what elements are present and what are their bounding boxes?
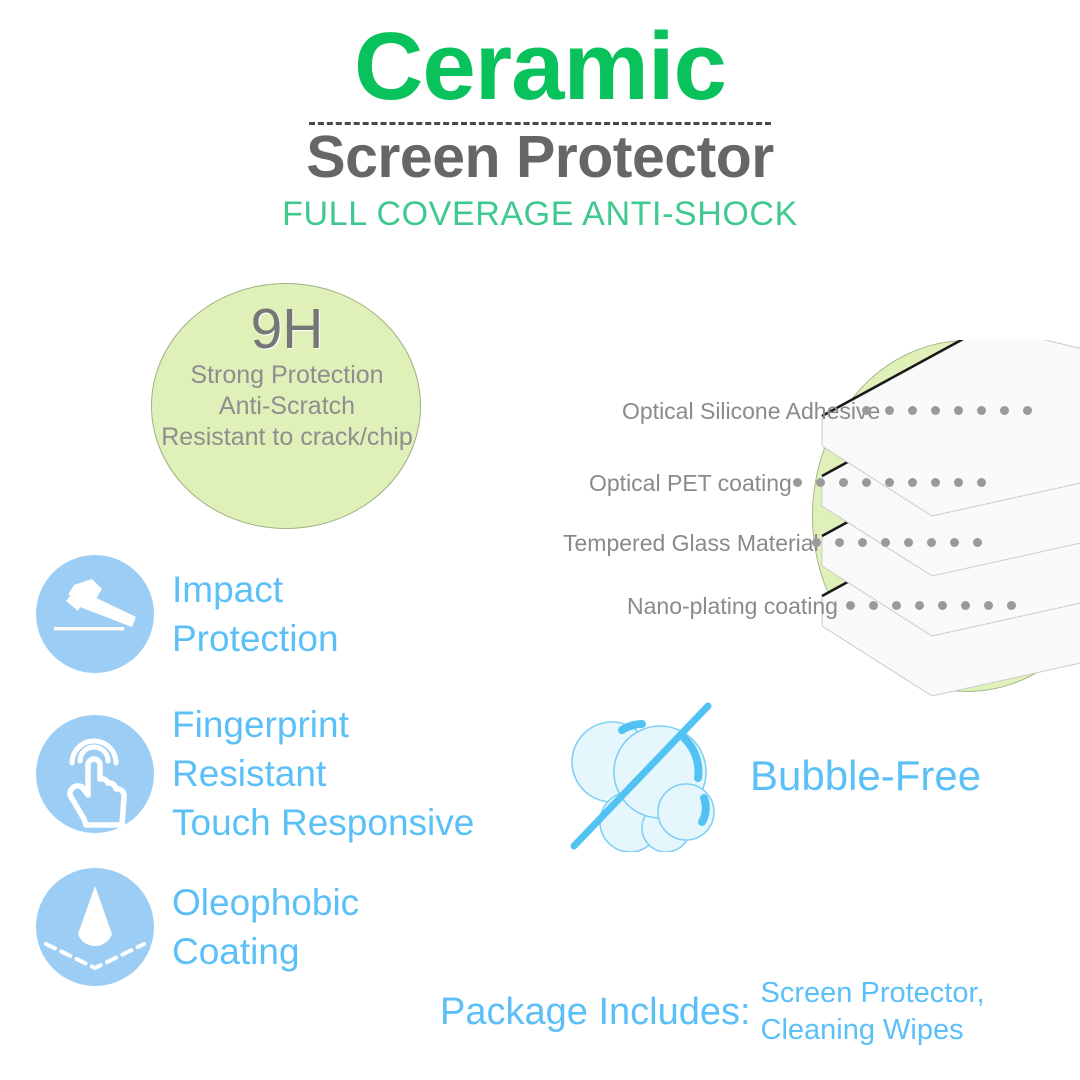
- feature-impact-protection-text: Impact Protection: [172, 565, 339, 663]
- layer-leader-dots-4: [846, 601, 1030, 610]
- feature-line: Fingerprint: [172, 700, 474, 749]
- feature-impact-protection: Impact Protection: [36, 555, 339, 673]
- layer-leader-dots-2: [793, 478, 1000, 487]
- package-includes-items: Screen Protector, Cleaning Wipes: [761, 975, 985, 1049]
- layer-structure-diagram: [812, 340, 1080, 696]
- package-includes-label: Package Includes:: [440, 991, 751, 1034]
- feature-line: Impact: [172, 565, 339, 614]
- feature-bubble-free: Bubble-Free: [568, 700, 981, 852]
- header: Ceramic Screen Protector FULL COVERAGE A…: [0, 18, 1080, 234]
- hardness-line-1: Strong Protection: [152, 360, 422, 391]
- feature-line: Touch Responsive: [172, 798, 474, 847]
- layer-leader-dots-1: [862, 406, 1046, 415]
- package-includes: Package Includes: Screen Protector, Clea…: [440, 975, 985, 1049]
- water-droplet-icon-glyph: [36, 868, 154, 986]
- layer-label-optical-pet-coating: Optical PET coating: [589, 470, 792, 497]
- layer-label-optical-silicone-adhesive: Optical Silicone Adhesive: [622, 398, 880, 425]
- hammer-icon-glyph: [36, 555, 154, 673]
- feature-fingerprint-resistant-text: Fingerprint Resistant Touch Responsive: [172, 700, 474, 848]
- feature-line: Coating: [172, 927, 359, 976]
- layer-sheets-graphic: [812, 340, 1080, 696]
- layer-label-tempered-glass-material: Tempered Glass Material: [563, 530, 819, 557]
- touch-hand-icon: [36, 715, 154, 833]
- feature-line: Protection: [172, 614, 339, 663]
- hardness-badge-content: 9H Strong Protection Anti-Scratch Resist…: [152, 300, 422, 453]
- package-item: Screen Protector,: [761, 975, 985, 1012]
- hardness-value: 9H: [152, 300, 422, 360]
- feature-fingerprint-resistant: Fingerprint Resistant Touch Responsive: [36, 700, 474, 848]
- hardness-badge: 9H Strong Protection Anti-Scratch Resist…: [151, 283, 421, 529]
- product-infographic: Ceramic Screen Protector FULL COVERAGE A…: [0, 0, 1080, 1080]
- layer-label-nano-plating-coating: Nano-plating coating: [627, 593, 838, 620]
- page-tagline: FULL COVERAGE ANTI-SHOCK: [0, 195, 1080, 234]
- touch-hand-icon-glyph: [36, 715, 154, 833]
- hardness-line-3: Resistant to crack/chip: [152, 422, 422, 453]
- page-subtitle: Screen Protector: [0, 127, 1080, 189]
- page-title: Ceramic: [0, 18, 1080, 116]
- feature-line: Oleophobic: [172, 878, 359, 927]
- hammer-icon: [36, 555, 154, 673]
- water-droplet-icon: [36, 868, 154, 986]
- feature-line: Resistant: [172, 749, 474, 798]
- hardness-line-2: Anti-Scratch: [152, 391, 422, 422]
- feature-oleophobic-coating: Oleophobic Coating: [36, 868, 359, 986]
- package-item: Cleaning Wipes: [761, 1012, 985, 1049]
- no-bubbles-icon: [568, 700, 736, 852]
- layer-leader-dots-3: [812, 538, 996, 547]
- feature-oleophobic-coating-text: Oleophobic Coating: [172, 878, 359, 976]
- feature-bubble-free-label: Bubble-Free: [750, 752, 981, 800]
